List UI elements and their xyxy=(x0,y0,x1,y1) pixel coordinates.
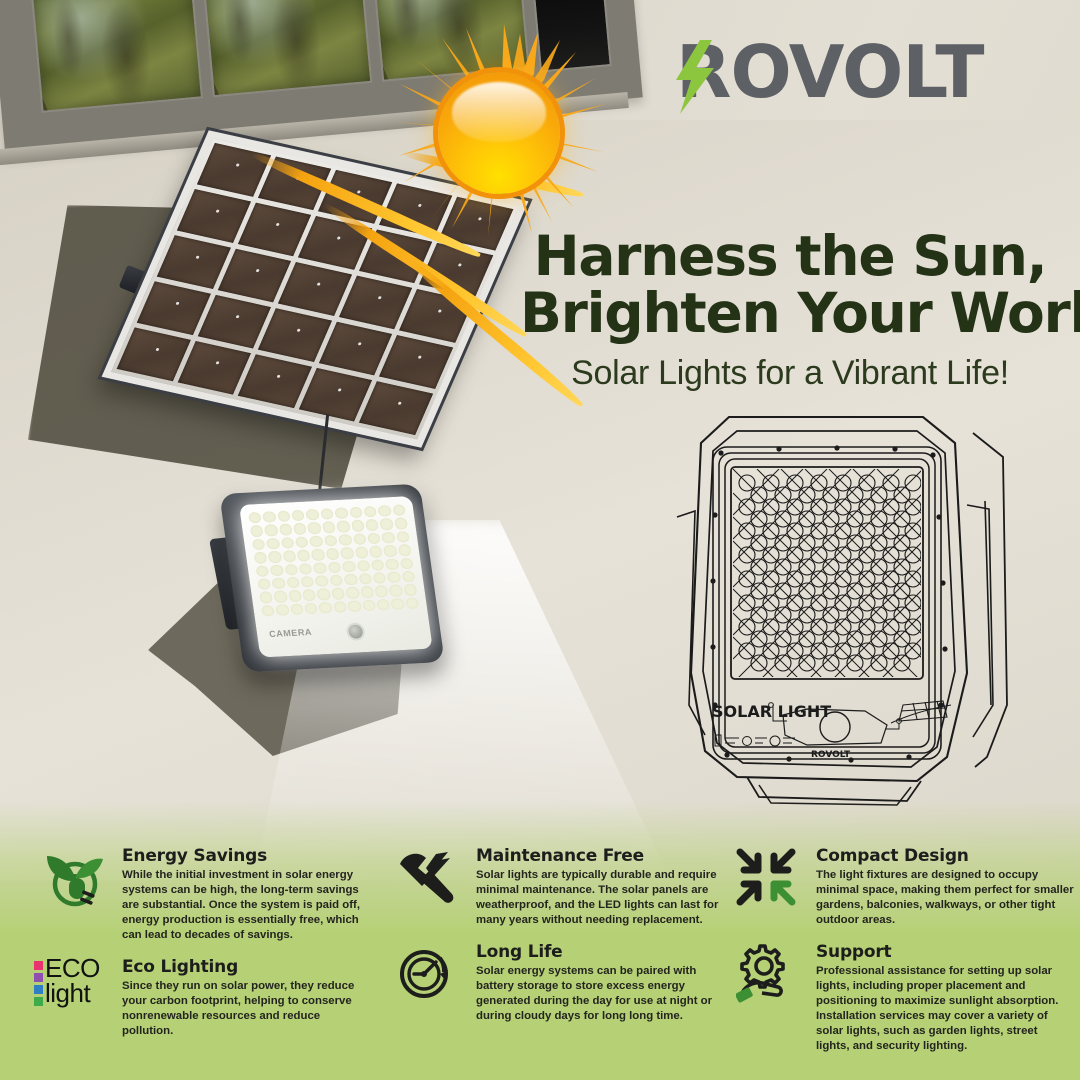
sun-gloss-highlight xyxy=(452,82,546,142)
product-camera-label: CAMERA xyxy=(269,627,313,639)
sun-graphic xyxy=(392,22,608,238)
lineart-model-label: SOLAR LIGHT xyxy=(712,702,831,721)
window-pane xyxy=(31,0,203,113)
headline-block: Harness the Sun, Brighten Your World Sol… xyxy=(520,228,1060,393)
eco-square-1 xyxy=(34,961,43,970)
product-line-drawing: SOLAR LIGHT ROVOLT xyxy=(655,405,1065,815)
leaf-plug-icon xyxy=(34,846,112,943)
hammer-screwdriver-icon xyxy=(388,846,466,928)
brand-logo[interactable]: ROVOLT xyxy=(676,36,983,108)
features-column-middle: Maintenance Free Solar lights are typica… xyxy=(388,846,724,1038)
eco-square-3 xyxy=(34,985,43,994)
feature-long-life: Long Life Solar energy systems can be pa… xyxy=(388,942,724,1024)
eco-word-bottom: light xyxy=(45,981,90,1006)
svg-text:ROVOLT: ROVOLT xyxy=(811,750,851,760)
gear-in-hand-icon xyxy=(728,942,806,1054)
compress-arrows-icon xyxy=(728,846,806,928)
headline-line-1: Harness the Sun, xyxy=(520,228,1060,285)
headline-subtitle: Solar Lights for a Vibrant Life! xyxy=(520,354,1060,393)
clock-arrow-icon xyxy=(388,942,466,1024)
feature-title: Eco Lighting xyxy=(122,957,374,977)
lightning-bolt-icon xyxy=(672,40,718,114)
feature-title: Energy Savings xyxy=(122,846,374,866)
brand-logo-text: ROVOLT xyxy=(676,36,983,108)
poster-canvas: CAMERA xyxy=(0,0,1080,1080)
feature-description: Solar energy systems can be paired with … xyxy=(476,964,724,1024)
features-section: Energy Savings While the initial investm… xyxy=(0,846,1080,1080)
feature-title: Support xyxy=(816,942,1074,962)
feature-description: Professional assistance for setting up s… xyxy=(816,964,1074,1054)
feature-maintenance-free: Maintenance Free Solar lights are typica… xyxy=(388,846,724,928)
feature-energy-savings: Energy Savings While the initial investm… xyxy=(34,846,374,943)
feature-eco-lighting: ECO light Eco Lighting Since they run on… xyxy=(34,957,374,1039)
feature-description: Solar lights are typically durable and r… xyxy=(476,868,724,928)
feature-title: Compact Design xyxy=(816,846,1074,866)
motion-sensor-icon xyxy=(346,622,367,641)
feature-description: Since they run on solar power, they redu… xyxy=(122,979,374,1039)
features-column-right: Compact Design The light fixtures are de… xyxy=(728,846,1074,1068)
feature-title: Long Life xyxy=(476,942,724,962)
feature-description: The light fixtures are designed to occup… xyxy=(816,868,1074,928)
flood-light-photo: CAMERA xyxy=(219,484,445,673)
flood-light-lens: CAMERA xyxy=(239,496,433,658)
feature-title: Maintenance Free xyxy=(476,846,724,866)
led-array xyxy=(248,504,419,616)
feature-description: While the initial investment in solar en… xyxy=(122,868,374,943)
headline-line-2: Brighten Your World xyxy=(520,285,1060,342)
feature-support: Support Professional assistance for sett… xyxy=(728,942,1074,1054)
eco-square-2 xyxy=(34,973,43,982)
eco-light-logo-icon: ECO light xyxy=(34,957,112,1039)
eco-square-4 xyxy=(34,997,43,1006)
window-pane xyxy=(202,0,372,97)
feature-compact-design: Compact Design The light fixtures are de… xyxy=(728,846,1074,928)
features-column-left: Energy Savings While the initial investm… xyxy=(34,846,374,1053)
